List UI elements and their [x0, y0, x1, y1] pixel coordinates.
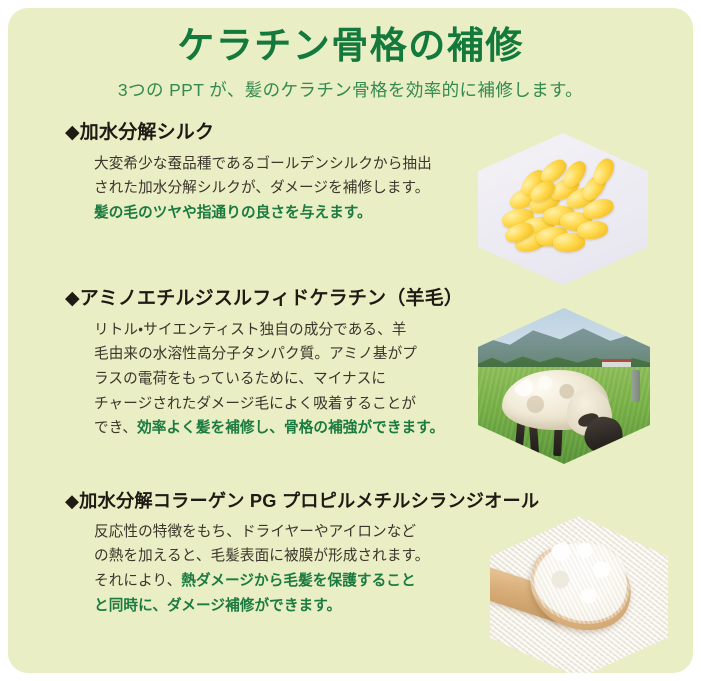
body-text: チャージされたダメージ毛によく吸着することが — [94, 396, 416, 412]
page-title: ケラチン骨格の補修 — [8, 8, 693, 68]
section-heading: ◆加水分解コラーゲン PG プロピルメチルシランジオール — [8, 490, 693, 513]
body-text: の熱を加えると、毛髪表面に被膜が形成されます。 — [94, 548, 429, 564]
body-line: 毛由来の水溶性高分子タンパク質。アミノ基がプ — [94, 342, 408, 367]
body-text: ラスの電荷をもっているために、マイナスに — [94, 371, 386, 387]
section-body: リトル・サイエンティスト独自の成分である、羊 毛由来の水溶性高分子タンパク質。ア… — [8, 311, 408, 441]
body-text: でき、 — [94, 420, 137, 436]
body-line: 反応性の特徴をもち、ドライヤーやアイロンなど — [94, 520, 408, 545]
body-text-emphasis: 熱ダメージから毛髪を保護すること — [181, 573, 415, 589]
body-text-emphasis: 髪の毛のツヤや指通りの良さを与えます。 — [94, 205, 372, 221]
body-line: 大変希少な蚕品種であるゴールデンシルクから抽出 — [94, 152, 408, 177]
body-text-emphasis: と同時に、ダメージ補修ができます。 — [94, 598, 341, 614]
page-subtitle: 3つの PPT が、髪のケラチン骨格を効率的に補修します。 — [8, 68, 693, 101]
body-line: それにより、熱ダメージから毛髪を保護すること — [94, 569, 408, 594]
body-text: 毛由来の水溶性高分子タンパク質。アミノ基がプ — [94, 346, 417, 362]
body-text: それにより、 — [94, 573, 181, 589]
body-line: でき、効率よく髪を補修し、骨格の補強ができます。 — [94, 416, 408, 441]
body-text: 反応性の特徴をもち、ドライヤーやアイロンなど — [94, 524, 416, 540]
body-line: の熱を加えると、毛髪表面に被膜が形成されます。 — [94, 544, 408, 569]
body-text-emphasis: 効率よく髪を補修し、骨格の補強ができます。 — [137, 420, 444, 436]
body-line: ラスの電荷をもっているために、マイナスに — [94, 367, 408, 392]
body-line: 髪の毛のツヤや指通りの良さを与えます。 — [94, 201, 408, 226]
body-line: された加水分解シルクが、ダメージを補修します。 — [94, 176, 408, 201]
content-panel: ケラチン骨格の補修 3つの PPT が、髪のケラチン骨格を効率的に補修します。 … — [8, 8, 693, 673]
section-body: 反応性の特徴をもち、ドライヤーやアイロンなど の熱を加えると、毛髪表面に被膜が形… — [8, 513, 408, 618]
infographic-page: ケラチン骨格の補修 3つの PPT が、髪のケラチン骨格を効率的に補修します。 … — [0, 0, 701, 681]
body-line: リトル・サイエンティスト独自の成分である、羊 — [94, 318, 408, 343]
header: ケラチン骨格の補修 3つの PPT が、髪のケラチン骨格を効率的に補修します。 — [8, 8, 693, 101]
body-line: と同時に、ダメージ補修ができます。 — [94, 594, 408, 619]
fence-post — [631, 370, 640, 401]
section-heading: ◆アミノエチルジスルフィドケラチン（羊毛） — [8, 287, 693, 311]
section-body: 大変希少な蚕品種であるゴールデンシルクから抽出 された加水分解シルクが、ダメージ… — [8, 145, 408, 226]
body-text: 大変希少な蚕品種であるゴールデンシルクから抽出 — [94, 156, 432, 172]
body-line: チャージされたダメージ毛によく吸着することが — [94, 392, 408, 417]
body-text: リトル・サイエンティスト独自の成分である、羊 — [94, 322, 406, 338]
body-text: された加水分解シルクが、ダメージを補修します。 — [94, 180, 429, 196]
section-heading: ◆加水分解シルク — [8, 121, 693, 145]
